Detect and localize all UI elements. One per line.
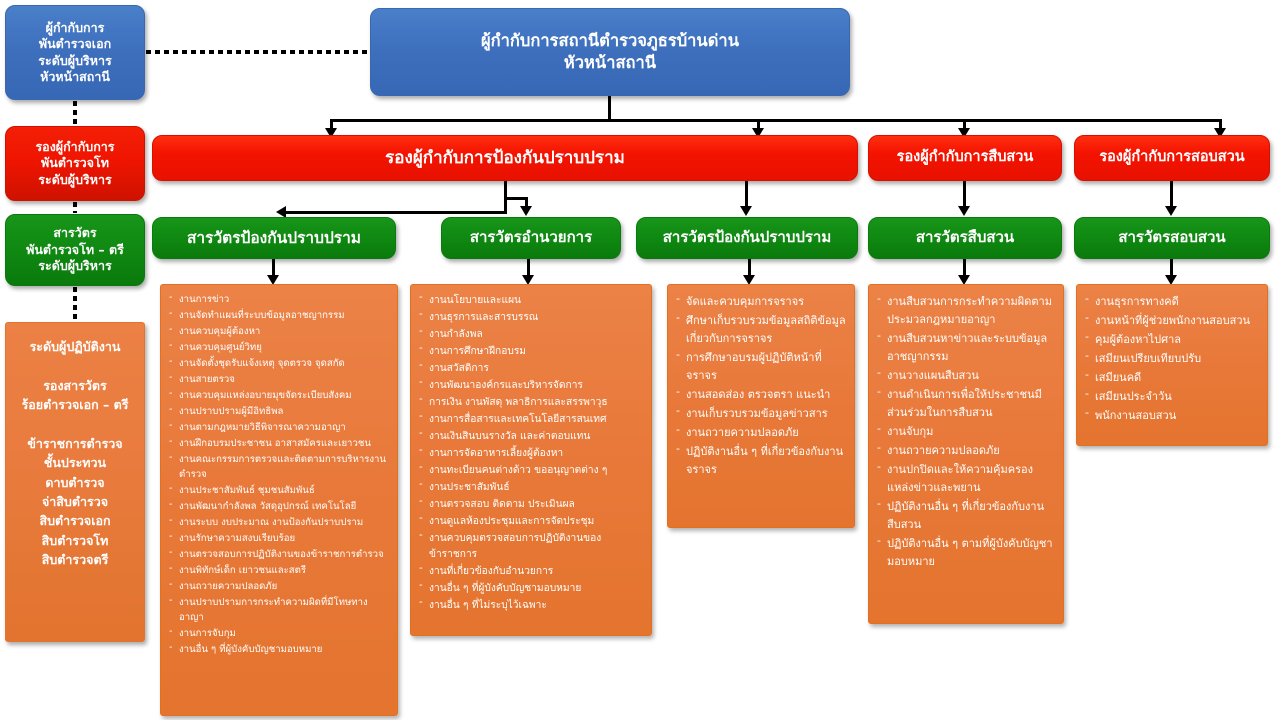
node-inspector-investigation[interactable]: สารวัตรสืบสวน xyxy=(868,217,1062,259)
task-item: จัดและควบคุมการจราจร xyxy=(676,292,846,310)
task-item: งานอื่น ๆ ที่ผู้บังคับบัญชามอบหมาย xyxy=(419,580,643,596)
task-item: การเงิน งานพัสดุ พลาธิการและสรรพาวุธ xyxy=(419,394,643,410)
task-item: งานปราบปรามผู้มีอิทธิพล xyxy=(169,404,389,419)
task-item: งานจัดทำแผนที่ระบบข้อมูลอาชญากรรม xyxy=(169,308,389,323)
task-panel-investigation: งานสืบสวนการกระทำความผิดตามประมวลกฎหมายอ… xyxy=(868,284,1064,624)
task-item: งานฝึกอบรมประชาชน อาสาสมัครและเยาวชน xyxy=(169,436,389,451)
task-item: งานดูแลห้องประชุมและการจัดประชุม xyxy=(419,513,643,529)
task-item: งานการศึกษาฝึกอบรม xyxy=(419,343,643,359)
task-item: งานสืบสวนการกระทำความผิดตามประมวลกฎหมายอ… xyxy=(877,292,1055,328)
inspector-arrow-5-icon xyxy=(1165,206,1177,216)
task-item: งานตรวจสอบ ติดตาม ประเมินผล xyxy=(419,496,643,512)
node-inspector-investigation-label: สารวัตรสืบสวน xyxy=(916,228,1014,248)
task-item: งานการข่าว xyxy=(169,292,389,307)
task-item: งานปราบปรามการกระทำความผิดที่มีโทษทางอาญ… xyxy=(169,595,389,625)
legend-rank-operational: ระดับผู้ปฏิบัติงาน รองสารวัตร ร้อยตำรวจเ… xyxy=(5,322,145,642)
task-panel-prevention-1: งานการข่าวงานจัดทำแผนที่ระบบข้อมูลอาชญาก… xyxy=(160,284,398,716)
task-item: งานถวายความปลอดภัย xyxy=(676,423,846,441)
task-item: งานเก็บรวบรวมข้อมูลข่าวสาร xyxy=(676,404,846,422)
org-chart-canvas: ผู้กำกับการ พันตำรวจเอก ระดับผู้บริหาร ห… xyxy=(0,0,1280,720)
task-item: งานถวายความปลอดภัย xyxy=(169,579,389,594)
task-item: งานการสื่อสารและเทคโนโลยีสารสนเทศ xyxy=(419,411,643,427)
task-item: งานพิทักษ์เด็ก เยาวชนและสตรี xyxy=(169,563,389,578)
task-list-traffic: จัดและควบคุมการจราจรศึกษาเก็บรวบรวมข้อมู… xyxy=(676,292,846,478)
task-item: งานควบคุมแหล่งอบายมุขจัดระเบียบสังคม xyxy=(169,388,389,403)
node-inspector-inquiry[interactable]: สารวัตรสอบสวน xyxy=(1074,217,1270,259)
legend-dotted-connector-3 xyxy=(73,287,77,321)
task-item: พนักงานสอบสวน xyxy=(1085,406,1259,424)
legend-rank-operational-label: ระดับผู้ปฏิบัติงาน รองสารวัตร ร้อยตำรวจเ… xyxy=(12,337,138,570)
task-item: งานสอดส่อง ตรวจตรา แนะนำ xyxy=(676,385,846,403)
node-deputy-investigation[interactable]: รองผู้กำกับการสืบสวน xyxy=(868,135,1062,181)
legend-rank-commander-label: ผู้กำกับการ พันตำรวจเอก ระดับผู้บริหาร ห… xyxy=(12,20,138,86)
task-panel-inquiry: งานธุรการทางคดีงานหน้าที่ผู้ช่วยพนักงานส… xyxy=(1076,284,1268,446)
task-item: งานสายตรวจ xyxy=(169,372,389,387)
task-item: เสมียนคดี xyxy=(1085,368,1259,386)
prevention-branch-bus xyxy=(285,211,507,214)
task-item: ปฏิบัติงานอื่น ๆ ที่เกี่ยวข้องกับงานจราจ… xyxy=(676,442,846,478)
task-item: งานจัดตั้งชุดรับแจ้งเหตุ จุดตรวจ จุดสกัด xyxy=(169,356,389,371)
node-inspector-inquiry-label: สารวัตรสอบสวน xyxy=(1118,228,1225,248)
task-item: การศึกษาอบรมผู้ปฏิบัติหน้าที่จราจร xyxy=(676,348,846,384)
task-panel-traffic: จัดและควบคุมการจราจรศึกษาเก็บรวบรวมข้อมู… xyxy=(667,284,855,528)
inspector-drop-5 xyxy=(1170,181,1173,208)
node-commander[interactable]: ผู้กำกับการสถานีตำรวจภูธรบ้านด่าน หัวหน้… xyxy=(370,8,850,96)
task-item: งานที่เกี่ยวข้องกับอำนวยการ xyxy=(419,563,643,579)
node-inspector-prevention-2[interactable]: สารวัตรป้องกันปราบปราม xyxy=(636,217,858,259)
task-item: ปฏิบัติงานอื่น ๆ ที่เกี่ยวข้องกับงานสืบส… xyxy=(877,497,1055,533)
task-item: งานระบบ งบประมาณ งานป้องกันปราบปราม xyxy=(169,515,389,530)
node-deputy-inquiry-label: รองผู้กำกับการสอบสวน xyxy=(1099,148,1244,167)
task-item: ศึกษาเก็บรวบรวมข้อมูลสถิติข้อมูลเกี่ยวกั… xyxy=(676,311,846,347)
node-inspector-administration-label: สารวัตรอำนวยการ xyxy=(470,228,592,248)
task-item: เสมียนประจำวัน xyxy=(1085,387,1259,405)
task-item: งานตรวจสอบการปฏิบัติงานของข้าราชการตำรวจ xyxy=(169,547,389,562)
task-item: งานเงินสินบนรางวัล และค่าตอบแทน xyxy=(419,428,643,444)
inspector-drop-3 xyxy=(745,181,748,208)
node-inspector-prevention-2-label: สารวัตรป้องกันปราบปราม xyxy=(663,228,831,248)
task-item: งานคณะกรรมการตรวจและติดตามการบริหารงานตำ… xyxy=(169,452,389,482)
node-inspector-prevention-1[interactable]: สารวัตรป้องกันปราบปราม xyxy=(152,217,396,259)
legend-rank-commander: ผู้กำกับการ พันตำรวจเอก ระดับผู้บริหาร ห… xyxy=(5,5,145,100)
task-item: งานดำเนินการเพื่อให้ประชาชนมีส่วนร่วมในก… xyxy=(877,385,1055,421)
task-item: งานพัฒนาองค์กรและบริหารจัดการ xyxy=(419,377,643,393)
task-item: เสมียนเปรียบเทียบปรับ xyxy=(1085,349,1259,367)
legend-rank-deputy: รองผู้กำกับการ พันตำรวจโท ระดับผู้บริหาร xyxy=(5,126,145,201)
inspector-arrow-3-icon xyxy=(740,206,752,216)
node-deputy-investigation-label: รองผู้กำกับการสืบสวน xyxy=(897,148,1034,167)
task-item: งานประชาสัมพันธ์ ชุมชนสัมพันธ์ xyxy=(169,483,389,498)
inspector-arrow-4-icon xyxy=(958,206,970,216)
task-item: งานธุรการและสารบรรณ xyxy=(419,309,643,325)
task-item: งานนโยบายและแผน xyxy=(419,292,643,308)
node-inspector-prevention-1-label: สารวัตรป้องกันปราบปราม xyxy=(187,228,361,248)
task-item: งานอื่น ๆ ที่ไม่ระบุไว้เฉพาะ xyxy=(419,597,643,613)
task-item: งานประชาสัมพันธ์ xyxy=(419,479,643,495)
task-item: งานพัฒนากำลังพล วัสดุอุปกรณ์ เทคโนโลยี xyxy=(169,499,389,514)
task-item: งานการจับกุม xyxy=(169,626,389,641)
task-list-investigation: งานสืบสวนการกระทำความผิดตามประมวลกฎหมายอ… xyxy=(877,292,1055,570)
task-item: งานควบคุมศูนย์วิทยุ xyxy=(169,340,389,355)
legend-rank-inspector: สารวัตร พันตำรวจโท – ตรี ระดับผู้บริหาร xyxy=(5,214,145,286)
task-item: งานธุรการทางคดี xyxy=(1085,292,1259,310)
task-list-administration: งานนโยบายและแผนงานธุรการและสารบรรณงานกำล… xyxy=(419,292,643,613)
legend-rank-deputy-label: รองผู้กำกับการ พันตำรวจโท ระดับผู้บริหาร xyxy=(12,139,138,189)
legend-rank-inspector-label: สารวัตร พันตำรวจโท – ตรี ระดับผู้บริหาร xyxy=(12,225,138,275)
node-deputy-prevention-label: รองผู้กำกับการป้องกันปราบปราม xyxy=(385,147,625,169)
task-item: คุมผู้ต้องหาไปศาล xyxy=(1085,330,1259,348)
task-item: งานปกปิดและให้ความคุ้มครองแหล่งข่าวและพย… xyxy=(877,460,1055,496)
legend-dotted-connector-2 xyxy=(73,202,77,213)
task-panel-administration: งานนโยบายและแผนงานธุรการและสารบรรณงานกำล… xyxy=(410,284,652,636)
task-item: งานควบคุมตรวจสอบการปฏิบัติงานของข้าราชกา… xyxy=(419,530,643,562)
task-item: งานถวายความปลอดภัย xyxy=(877,441,1055,459)
node-deputy-prevention[interactable]: รองผู้กำกับการป้องกันปราบปราม xyxy=(152,135,858,181)
deputy-bus-line xyxy=(330,119,1220,122)
task-item: งานสวัสดิการ xyxy=(419,360,643,376)
task-list-prevention-1: งานการข่าวงานจัดทำแผนที่ระบบข้อมูลอาชญาก… xyxy=(169,292,389,657)
task-item: งานตามกฎหมายวิธีพิจารณาความอาญา xyxy=(169,420,389,435)
task-item: งานสืบสวนหาข่าวและระบบข้อมูลอาชญากรรม xyxy=(877,329,1055,365)
task-item: งานรักษาความสงบเรียบร้อย xyxy=(169,531,389,546)
task-item: งานการจัดอาหารเลี้ยงผู้ต้องหา xyxy=(419,445,643,461)
node-commander-label: ผู้กำกับการสถานีตำรวจภูธรบ้านด่าน หัวหน้… xyxy=(481,30,739,74)
task-item: งานกำลังพล xyxy=(419,326,643,342)
legend-dotted-connector-1 xyxy=(73,101,77,125)
task-item: งานหน้าที่ผู้ช่วยพนักงานสอบสวน xyxy=(1085,311,1259,329)
prevention-hook-arrow-icon xyxy=(520,206,532,216)
task-item: งานทะเบียนคนต่างด้าว ขออนุญาตต่าง ๆ xyxy=(419,462,643,478)
inspector-drop-4 xyxy=(963,181,966,208)
legend-to-commander-dotted-link xyxy=(146,50,370,54)
task-item: งานอื่น ๆ ที่ผู้บังคับบัญชามอบหมาย xyxy=(169,642,389,657)
node-inspector-administration[interactable]: สารวัตรอำนวยการ xyxy=(441,217,621,259)
task-item: งานควบคุมผู้ต้องหา xyxy=(169,324,389,339)
node-deputy-inquiry[interactable]: รองผู้กำกับการสอบสวน xyxy=(1074,135,1270,181)
task-item: ปฏิบัติงานอื่น ๆ ตามที่ผู้บังคับบัญชามอบ… xyxy=(877,534,1055,570)
task-item: งานวางแผนสืบสวน xyxy=(877,366,1055,384)
task-item: งานจับกุม xyxy=(877,422,1055,440)
task-list-inquiry: งานธุรการทางคดีงานหน้าที่ผู้ช่วยพนักงานส… xyxy=(1085,292,1259,424)
